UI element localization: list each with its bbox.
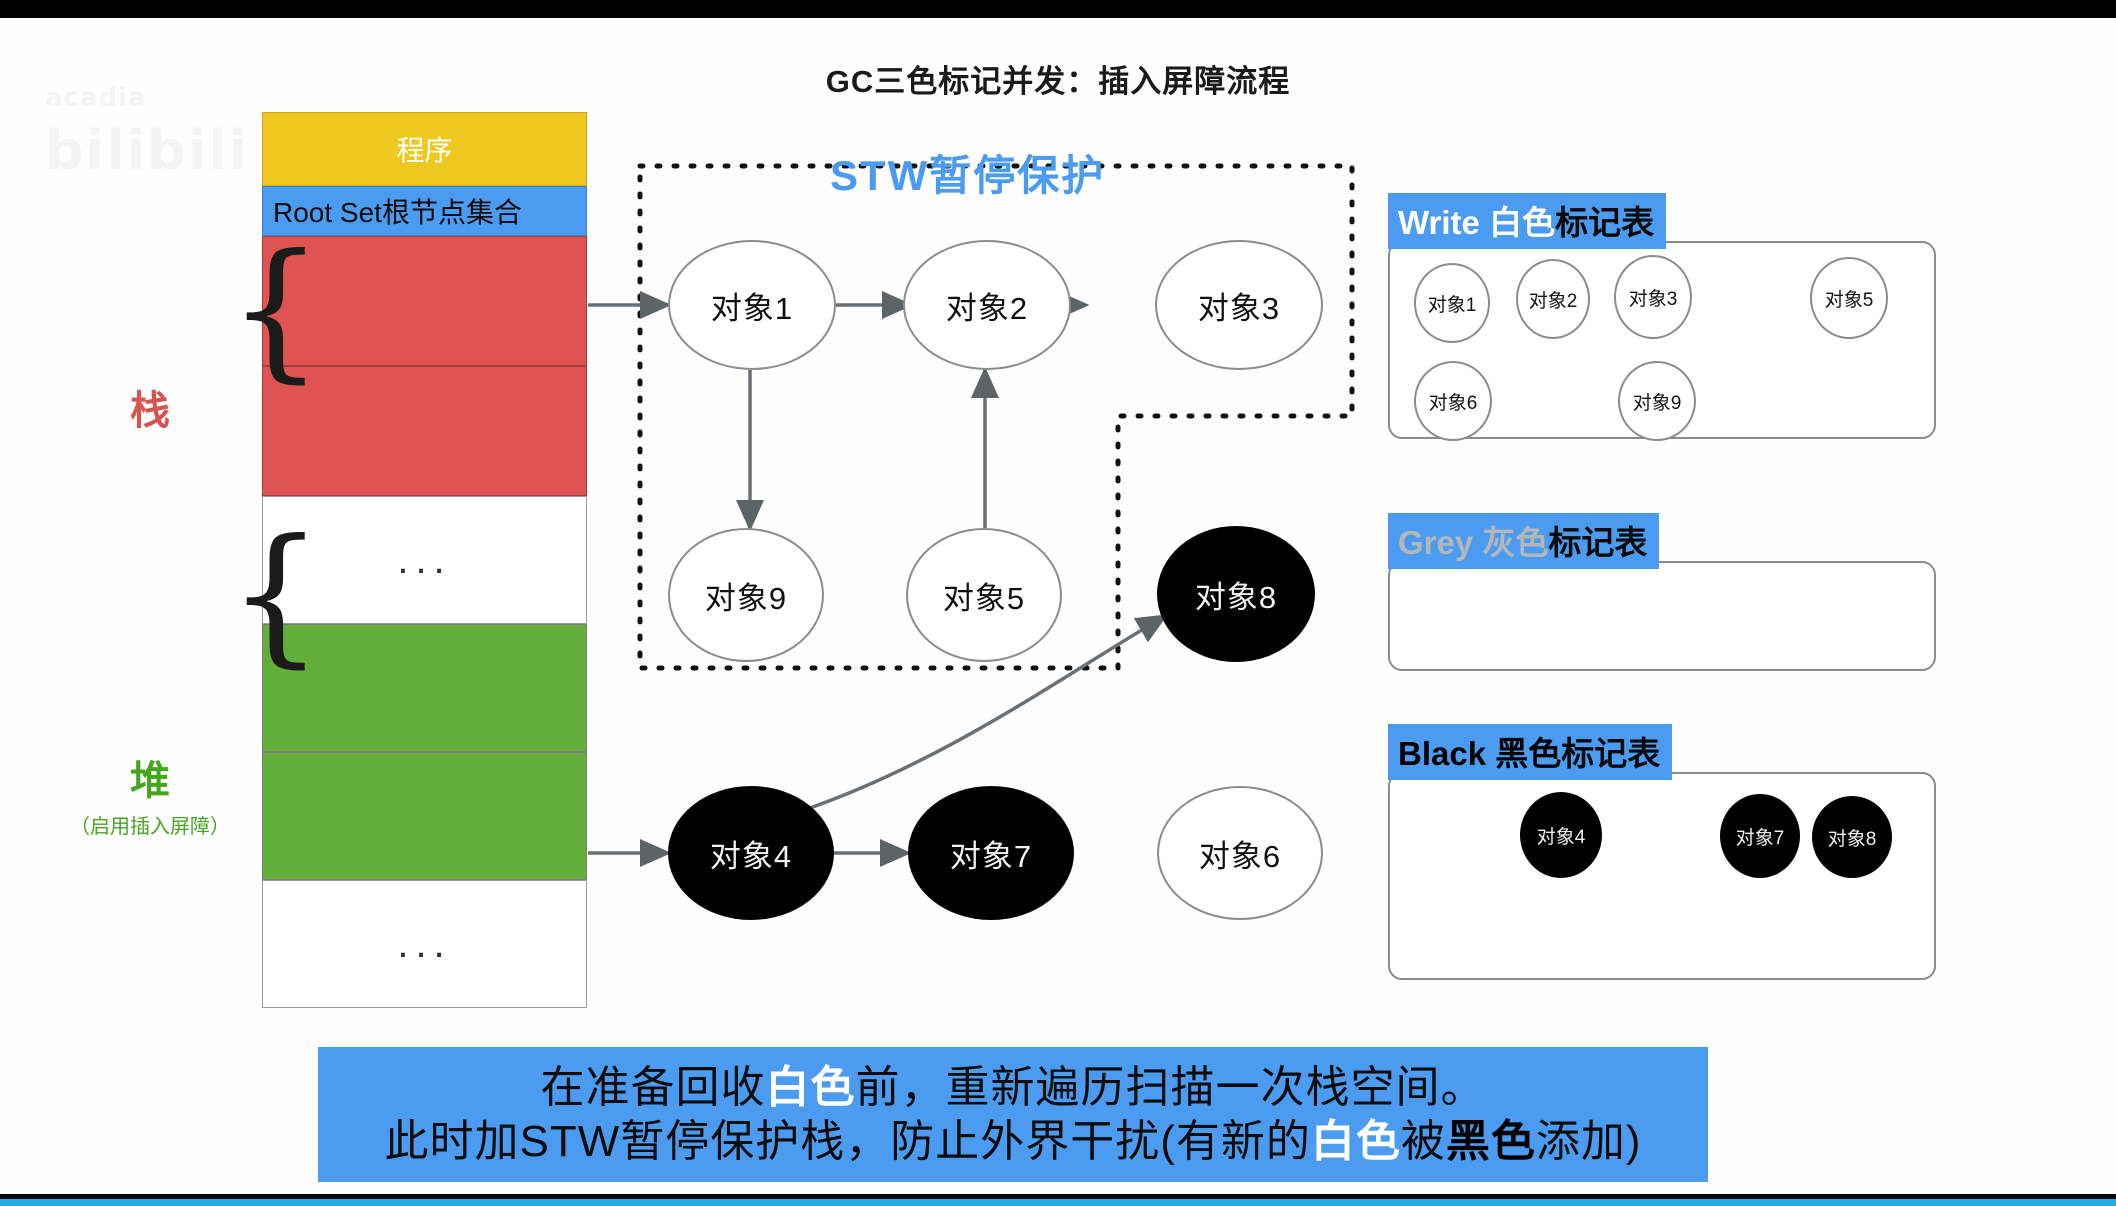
program-label: 程序 <box>396 129 452 169</box>
graph-node-obj2[interactable]: 对象2 <box>903 240 1071 370</box>
black-chip-obj4[interactable]: 对象4 <box>1520 792 1602 878</box>
white-chip-obj5[interactable]: 对象5 <box>1810 257 1888 339</box>
graph-node-obj3[interactable]: 对象3 <box>1155 240 1323 370</box>
caption-l2-white: 白色 <box>1311 1117 1401 1166</box>
black-mark-table-header: Black 黑色标记表 <box>1388 724 1672 780</box>
graph-node-obj9[interactable]: 对象9 <box>668 528 824 662</box>
graph-node-obj9-label: 对象9 <box>705 573 787 618</box>
white-mark-table-header: Write 白色标记表 <box>1388 193 1666 249</box>
page-title: GC三色标记并发：插入屏障流程 <box>0 56 2116 101</box>
white-chip-obj9-label: 对象9 <box>1633 388 1682 415</box>
program-block: 程序 <box>262 112 587 186</box>
white-chip-obj6-label: 对象6 <box>1429 388 1478 415</box>
black-mark-table-body: 对象4 对象7 对象8 <box>1388 772 1936 980</box>
grey-table-cn: 标记表 <box>1548 524 1647 561</box>
graph-node-obj6[interactable]: 对象6 <box>1157 786 1323 920</box>
caption-l2-black: 黑色 <box>1446 1117 1536 1166</box>
graph-node-obj7[interactable]: 对象7 <box>908 786 1074 920</box>
graph-node-obj1[interactable]: 对象1 <box>668 240 836 370</box>
white-chip-obj9[interactable]: 对象9 <box>1618 361 1696 441</box>
white-chip-obj6[interactable]: 对象6 <box>1414 361 1492 441</box>
black-table-en: Black <box>1398 735 1495 772</box>
white-chip-obj2-label: 对象2 <box>1529 286 1578 313</box>
video-frame: acadia bilibili GC三色标记并发：插入屏障流程 程序 Root … <box>0 0 2116 1206</box>
graph-node-obj1-label: 对象1 <box>711 283 793 328</box>
caption-l2-a: 此时加STW暂停保护栈，防止外界干扰(有新的 <box>384 1117 1310 1166</box>
heap-brace: { <box>228 508 323 682</box>
caption-banner: 在准备回收白色前，重新遍历扫描一次栈空间。 此时加STW暂停保护栈，防止外界干扰… <box>318 1047 1708 1182</box>
caption-line-1: 在准备回收白色前，重新遍历扫描一次栈空间。 <box>541 1061 1486 1115</box>
graph-node-obj5[interactable]: 对象5 <box>906 528 1062 662</box>
graph-node-obj5-label: 对象5 <box>943 573 1025 618</box>
white-chip-obj5-label: 对象5 <box>1825 285 1874 312</box>
white-chip-obj3[interactable]: 对象3 <box>1614 255 1692 339</box>
caption-l1-white: 白色 <box>766 1063 856 1112</box>
white-chip-obj1-label: 对象1 <box>1428 290 1477 317</box>
black-chip-obj4-label: 对象4 <box>1537 822 1586 849</box>
caption-line-2: 此时加STW暂停保护栈，防止外界干扰(有新的白色被黑色添加) <box>384 1115 1641 1169</box>
black-chip-obj8[interactable]: 对象8 <box>1812 796 1892 878</box>
caption-l2-c: 添加) <box>1536 1117 1642 1166</box>
stack-label: 栈 <box>90 378 210 436</box>
black-table-color-cn: 黑色 <box>1495 735 1561 772</box>
stack-ellipsis: ... <box>397 555 451 565</box>
stw-label: STW暂停保护 <box>830 142 1105 203</box>
heap-block-2 <box>262 752 587 880</box>
black-chip-obj8-label: 对象8 <box>1828 824 1877 851</box>
graph-node-obj3-label: 对象3 <box>1198 283 1280 328</box>
black-chip-obj7[interactable]: 对象7 <box>1720 794 1800 878</box>
white-chip-obj3-label: 对象3 <box>1629 284 1678 311</box>
white-table-cn: 标记表 <box>1555 204 1654 241</box>
heap-label-group: 堆 （启用插入屏障） <box>50 748 250 839</box>
grey-mark-table: Grey 灰色标记表 <box>1388 513 1948 693</box>
graph-node-obj4[interactable]: 对象4 <box>668 786 834 920</box>
graph-node-obj6-label: 对象6 <box>1199 831 1281 876</box>
grey-mark-table-header: Grey 灰色标记表 <box>1388 513 1659 569</box>
white-table-color-cn: 白色 <box>1489 204 1555 241</box>
white-mark-table-body: 对象1 对象2 对象3 对象5 对象6 对象9 <box>1388 241 1936 439</box>
graph-node-obj4-label: 对象4 <box>710 831 792 876</box>
black-mark-table: Black 黑色标记表 对象4 对象7 对象8 <box>1388 724 1948 1004</box>
letterbox-top <box>0 0 2116 18</box>
grey-mark-table-body <box>1388 561 1936 671</box>
graph-node-obj2-label: 对象2 <box>946 283 1028 328</box>
caption-l1-b: 前，重新遍历扫描一次栈空间。 <box>856 1063 1486 1112</box>
caption-l1-a: 在准备回收 <box>541 1063 766 1112</box>
graph-node-obj7-label: 对象7 <box>950 831 1032 876</box>
stack-label-group: 栈 <box>90 378 210 436</box>
white-mark-table: Write 白色标记表 对象1 对象2 对象3 对象5 对象6 对象9 <box>1388 193 1948 453</box>
heap-label: 堆 <box>50 748 250 806</box>
black-table-cn: 标记表 <box>1561 735 1660 772</box>
black-chip-obj7-label: 对象7 <box>1736 823 1785 850</box>
grey-table-en: Grey <box>1398 524 1482 561</box>
white-chip-obj1[interactable]: 对象1 <box>1414 263 1490 343</box>
grey-table-color-cn: 灰色 <box>1482 524 1548 561</box>
white-chip-obj2[interactable]: 对象2 <box>1516 259 1590 339</box>
caption-l2-b: 被 <box>1401 1117 1446 1166</box>
stack-brace: { <box>228 223 323 397</box>
video-progress-bar[interactable] <box>0 1199 2116 1206</box>
heap-sublabel: （启用插入屏障） <box>50 810 250 839</box>
slide-canvas: acadia bilibili GC三色标记并发：插入屏障流程 程序 Root … <box>0 18 2116 1194</box>
graph-node-obj8[interactable]: 对象8 <box>1157 526 1315 662</box>
white-table-en: Write <box>1398 204 1489 241</box>
graph-node-obj8-label: 对象8 <box>1195 572 1277 617</box>
heap-ellipsis: ... <box>397 939 451 949</box>
watermark-main-text: bilibili <box>45 119 249 182</box>
heap-ellipsis-block: ... <box>262 880 587 1008</box>
